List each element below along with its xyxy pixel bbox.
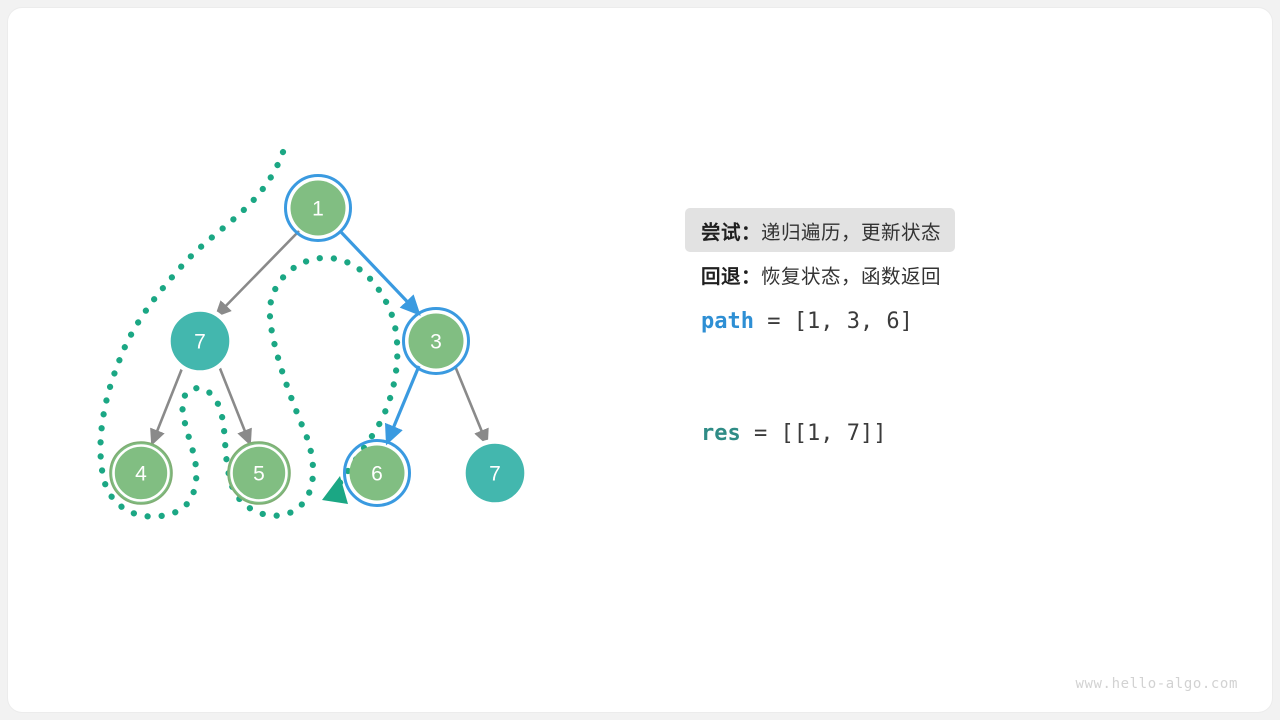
path-variable-name: path xyxy=(701,309,754,334)
edge-1-to-7left xyxy=(216,231,299,316)
legend-try-key: 尝试： xyxy=(701,216,761,245)
tree-node-7-right[interactable]: 7 xyxy=(463,441,528,506)
res-variable-value: = [[1, 7]] xyxy=(741,421,887,446)
node-4-label: 4 xyxy=(135,463,147,486)
res-variable-name: res xyxy=(701,421,741,446)
path-variable-value: = [1, 3, 6] xyxy=(754,309,913,334)
node-7left-label: 7 xyxy=(194,331,206,354)
path-expression-row: path = [1, 3, 6] xyxy=(686,296,1166,346)
legend-backtrack-key: 回退： xyxy=(701,260,761,289)
tree-node-6[interactable]: 6 xyxy=(345,441,410,506)
tree-node-7-left[interactable]: 7 xyxy=(168,309,233,374)
site-watermark: www.hello-algo.com xyxy=(1075,676,1238,692)
tree-node-1[interactable]: 1 xyxy=(286,176,351,241)
node-7right-label: 7 xyxy=(489,463,501,486)
legend-try-row: 尝试： 递归遍历，更新状态 xyxy=(685,208,955,252)
legend-backtrack-value: 恢复状态，函数返回 xyxy=(761,260,941,289)
edge-7left-to-4 xyxy=(152,366,183,444)
edge-3-to-7right xyxy=(455,366,487,444)
legend-spacer xyxy=(686,346,1166,408)
tree-node-3[interactable]: 3 xyxy=(404,309,469,374)
node-1-label: 1 xyxy=(312,198,324,221)
figure-canvas: 1 7 3 4 5 6 7 xyxy=(0,0,1280,720)
node-5-label: 5 xyxy=(253,463,265,486)
edge-3-to-6 xyxy=(387,366,419,443)
legend-try-value: 递归遍历，更新状态 xyxy=(761,216,941,245)
legend-panel: 尝试： 递归遍历，更新状态 回退： 恢复状态，函数返回 path = [1, 3… xyxy=(686,208,1166,458)
edge-1-to-3 xyxy=(340,231,419,314)
tree-node-4[interactable]: 4 xyxy=(110,442,172,504)
node-3-label: 3 xyxy=(430,331,442,354)
res-expression-row: res = [[1, 7]] xyxy=(686,408,1166,458)
node-6-label: 6 xyxy=(371,463,383,486)
legend-backtrack-row: 回退： 恢复状态，函数返回 xyxy=(686,252,1166,296)
tree-node-5[interactable]: 5 xyxy=(228,442,290,504)
